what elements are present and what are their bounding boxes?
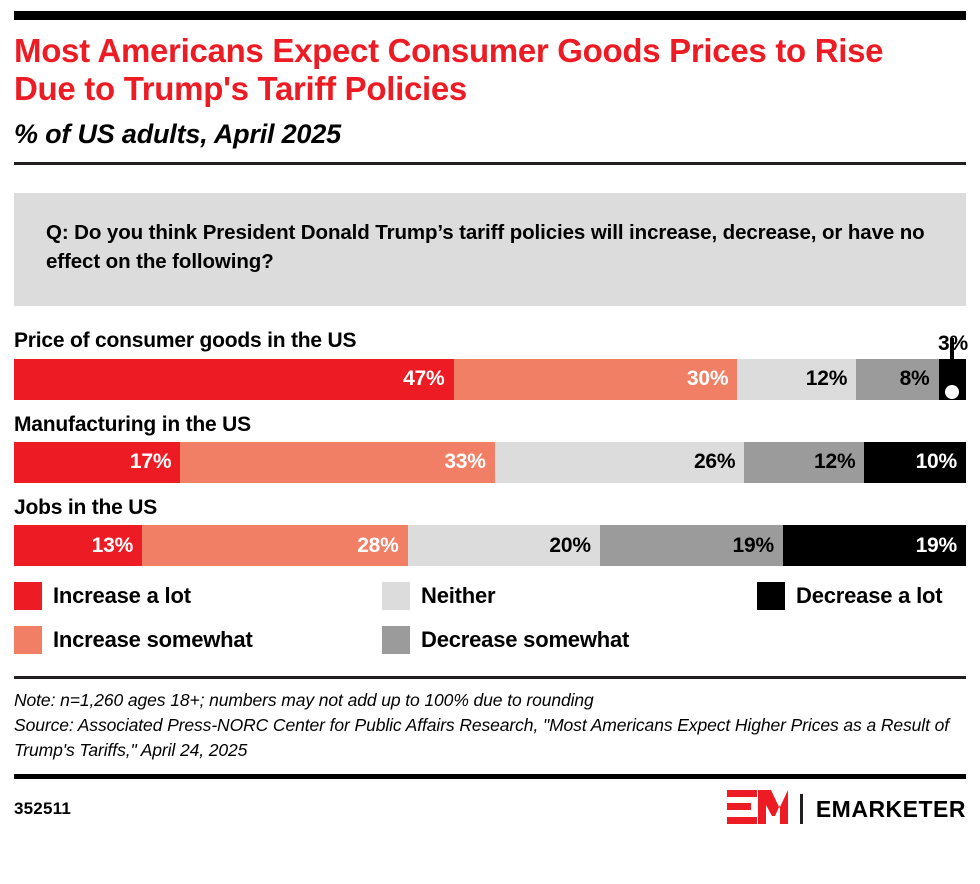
bar-segment-value: 19%	[916, 534, 957, 558]
bar-segment[interactable]: 26%	[495, 442, 745, 483]
top-rule	[14, 11, 966, 20]
chart-id: 352511	[14, 799, 71, 819]
bar-segment[interactable]: 12%	[737, 359, 856, 400]
bar-segment[interactable]: 3%3%	[939, 359, 966, 400]
bar-segment-value: 28%	[357, 534, 398, 558]
legend-swatch-icon	[757, 582, 785, 610]
chart-note: Note: n=1,260 ages 18+; numbers may not …	[14, 688, 966, 713]
stacked-bar: 17%33%26%12%10%	[14, 442, 966, 483]
bar-segment[interactable]: 8%	[856, 359, 938, 400]
bar-segment-value: 26%	[694, 450, 735, 474]
bar-group: Price of consumer goods in the US47%30%1…	[14, 328, 966, 399]
bar-group: Jobs in the US13%28%20%19%19%	[14, 495, 966, 566]
bar-group: Manufacturing in the US17%33%26%12%10%	[14, 412, 966, 483]
chart-source: Source: Associated Press-NORC Center for…	[14, 713, 966, 763]
legend-item[interactable]: Decrease somewhat	[382, 626, 629, 654]
em-logo-icon	[727, 790, 789, 829]
bar-segment[interactable]: 19%	[600, 525, 783, 566]
bar-segment[interactable]: 47%	[14, 359, 454, 400]
bar-segment[interactable]: 30%	[454, 359, 738, 400]
legend-label: Decrease a lot	[796, 583, 942, 609]
bottom-bar: 352511 EMARKETER	[14, 790, 966, 829]
page-subtitle: % of US adults, April 2025	[14, 118, 966, 150]
header-divider	[14, 162, 966, 165]
bar-segment[interactable]: 33%	[180, 442, 494, 483]
legend-item[interactable]: Increase a lot	[14, 582, 191, 610]
bar-segment-value: 19%	[733, 534, 774, 558]
chart-page: Most Americans Expect Consumer Goods Pri…	[0, 11, 980, 884]
bar-segment-value: 8%	[900, 367, 930, 391]
legend-swatch-icon	[14, 626, 42, 654]
bar-segment[interactable]: 28%	[142, 525, 408, 566]
legend-item[interactable]: Neither	[382, 582, 495, 610]
callout-dot-icon	[945, 385, 959, 399]
bar-segment-value: 17%	[130, 450, 171, 474]
bar-segment[interactable]: 10%	[864, 442, 966, 483]
legend-label: Increase a lot	[53, 583, 191, 609]
question-box: Q: Do you think President Donald Trump’s…	[14, 193, 966, 306]
bar-segment[interactable]: 13%	[14, 525, 142, 566]
bar-segment[interactable]: 19%	[783, 525, 966, 566]
stacked-bar: 13%28%20%19%19%	[14, 525, 966, 566]
bar-segment[interactable]: 20%	[408, 525, 600, 566]
question-text: Q: Do you think President Donald Trump’s…	[46, 219, 934, 276]
stacked-bar: 47%30%12%8%3%3%	[14, 359, 966, 400]
legend-label: Increase somewhat	[53, 627, 253, 653]
footer-divider	[14, 676, 966, 679]
stacked-bar-chart: Price of consumer goods in the US47%30%1…	[14, 328, 966, 566]
legend-label: Neither	[421, 583, 495, 609]
bar-row-label: Manufacturing in the US	[14, 412, 966, 442]
brand-name: EMARKETER	[816, 796, 966, 823]
legend-item[interactable]: Decrease a lot	[757, 582, 942, 610]
bar-segment-value: 12%	[814, 450, 855, 474]
bar-segment-value: 30%	[687, 367, 728, 391]
brand-divider	[800, 794, 803, 824]
bar-row-label: Price of consumer goods in the US	[14, 328, 966, 358]
legend-label: Decrease somewhat	[421, 627, 629, 653]
chart-legend: Increase a lotIncrease somewhatNeitherDe…	[14, 582, 966, 674]
bar-segment-value: 12%	[806, 367, 847, 391]
legend-item[interactable]: Increase somewhat	[14, 626, 253, 654]
bar-segment[interactable]: 12%	[744, 442, 864, 483]
brand-lockup: EMARKETER	[727, 790, 966, 829]
bar-segment[interactable]: 17%	[14, 442, 180, 483]
bar-segment-value: 13%	[92, 534, 133, 558]
bar-row-label: Jobs in the US	[14, 495, 966, 525]
callout-value-label: 3%	[938, 332, 968, 356]
page-title: Most Americans Expect Consumer Goods Pri…	[14, 32, 944, 109]
bar-segment-value: 10%	[916, 450, 957, 474]
bar-segment-value: 33%	[444, 450, 485, 474]
bar-segment-value: 47%	[403, 367, 444, 391]
legend-swatch-icon	[382, 582, 410, 610]
legend-swatch-icon	[382, 626, 410, 654]
bar-segment-value: 20%	[549, 534, 590, 558]
bottom-rule	[14, 774, 966, 779]
legend-swatch-icon	[14, 582, 42, 610]
